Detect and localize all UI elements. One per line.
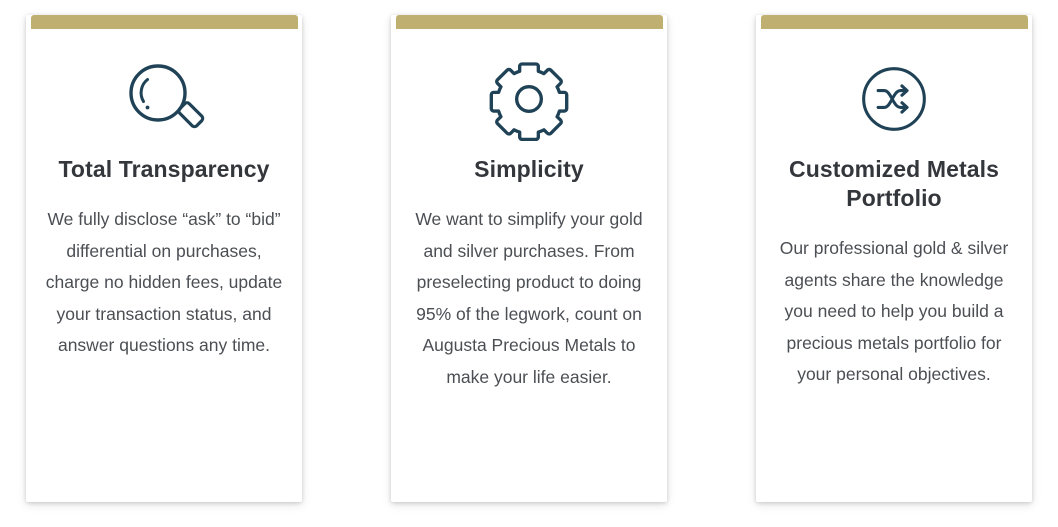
feature-card-total-transparency[interactable]: Total Transparency We fully disclose “as…: [26, 15, 302, 502]
card-accent-bar: [31, 15, 298, 29]
card-title: Customized Metals Portfolio: [756, 155, 1032, 213]
card-title: Simplicity: [460, 155, 598, 184]
card-title: Total Transparency: [44, 155, 283, 184]
feature-card-simplicity[interactable]: Simplicity We want to simplify your gold…: [391, 15, 667, 502]
feature-card-customized-metals-portfolio[interactable]: Customized Metals Portfolio Our professi…: [756, 15, 1032, 502]
magnifying-glass-icon: [116, 61, 212, 137]
gear-icon: [484, 61, 574, 137]
card-body-text: Our professional gold & silver agents sh…: [756, 233, 1032, 391]
card-body-text: We fully disclose “ask” to “bid” differe…: [26, 204, 302, 362]
card-body-text: We want to simplify your gold and silver…: [391, 204, 667, 393]
card-accent-bar: [396, 15, 663, 29]
card-accent-bar: [761, 15, 1028, 29]
shuffle-arrows-icon: [850, 61, 938, 137]
feature-cards-row: Total Transparency We fully disclose “as…: [0, 0, 1058, 527]
